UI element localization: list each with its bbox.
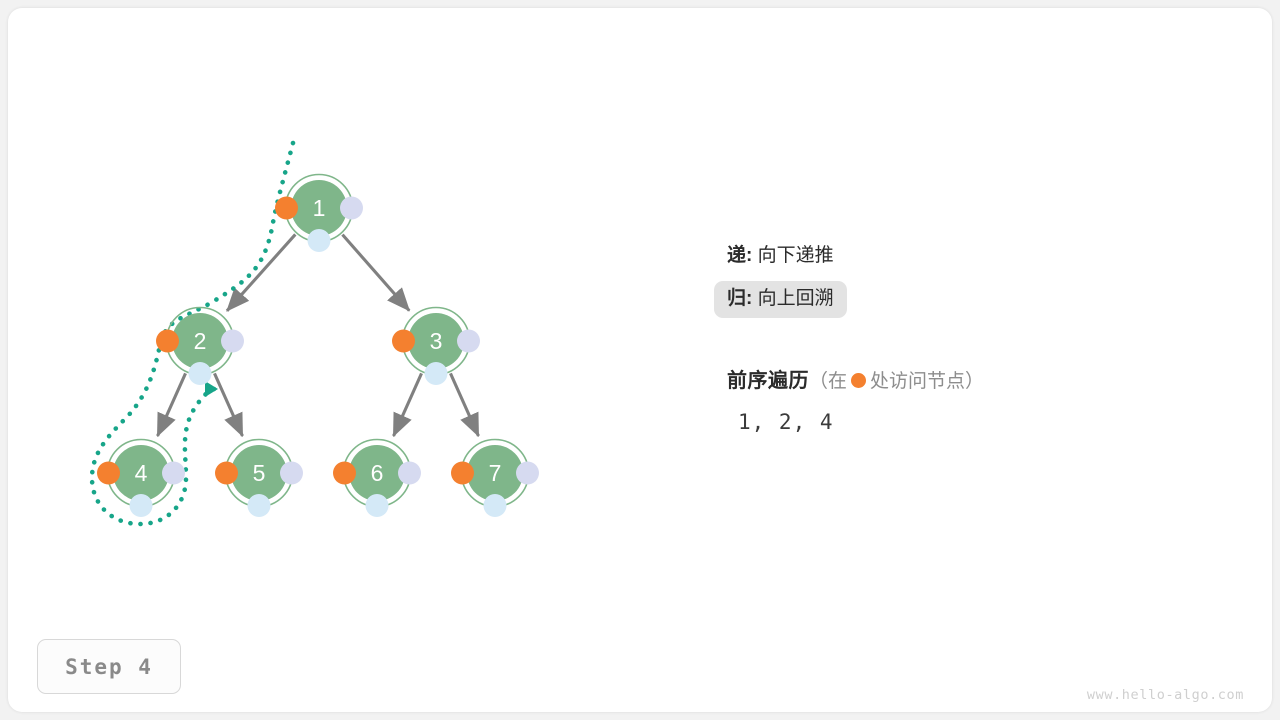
node-bottom-marker-dot bbox=[189, 362, 212, 385]
legend-key-recurse: 递: bbox=[727, 245, 752, 266]
legend-key-backtrack: 归: bbox=[727, 288, 752, 309]
node-bottom-marker-dot bbox=[130, 494, 153, 517]
tree-edge-n3-n7 bbox=[450, 373, 478, 436]
node-visit-marker-dot bbox=[215, 462, 238, 485]
tree-node-2[interactable]: 2 bbox=[156, 308, 244, 386]
node-label: 5 bbox=[253, 460, 266, 486]
node-visit-marker-dot bbox=[97, 462, 120, 485]
recursion-path-arrowhead bbox=[205, 381, 218, 397]
node-label: 3 bbox=[430, 328, 443, 354]
node-right-marker-dot bbox=[340, 197, 363, 220]
node-visit-marker-dot bbox=[156, 330, 179, 353]
traversal-sequence: 1, 2, 4 bbox=[738, 410, 834, 434]
tree-nodes: 1234567 bbox=[97, 175, 539, 518]
node-right-marker-dot bbox=[280, 462, 303, 485]
node-label: 1 bbox=[313, 195, 326, 221]
tree-edge-n1-n2 bbox=[227, 234, 295, 310]
node-right-marker-dot bbox=[162, 462, 185, 485]
node-right-marker-dot bbox=[221, 330, 244, 353]
traversal-title: 前序遍历 bbox=[727, 370, 809, 392]
node-bottom-marker-dot bbox=[484, 494, 507, 517]
node-label: 4 bbox=[135, 460, 148, 486]
tree-node-4[interactable]: 4 bbox=[97, 440, 185, 518]
node-visit-marker-dot bbox=[392, 330, 415, 353]
node-label: 2 bbox=[194, 328, 207, 354]
node-bottom-marker-dot bbox=[248, 494, 271, 517]
node-right-marker-dot bbox=[516, 462, 539, 485]
tree-edge-n1-n3 bbox=[342, 235, 409, 311]
tree-edge-n3-n6 bbox=[394, 373, 422, 436]
node-right-marker-dot bbox=[398, 462, 421, 485]
node-bottom-marker-dot bbox=[308, 229, 331, 252]
node-bottom-marker-dot bbox=[425, 362, 448, 385]
tree-edge-n2-n5 bbox=[214, 373, 242, 436]
visit-marker-dot bbox=[851, 373, 866, 388]
tree-node-7[interactable]: 7 bbox=[451, 440, 539, 518]
node-right-marker-dot bbox=[457, 330, 480, 353]
step-badge-label: Step 4 bbox=[65, 655, 153, 679]
node-visit-marker-dot bbox=[451, 462, 474, 485]
traversal-heading: 前序遍历（在处访问节点） bbox=[727, 364, 984, 393]
legend-value-recurse: 向下递推 bbox=[758, 245, 834, 266]
tree-edge-n2-n4 bbox=[158, 373, 186, 436]
node-bottom-marker-dot bbox=[366, 494, 389, 517]
traversal-note-before: （在 bbox=[809, 371, 847, 392]
tree-node-5[interactable]: 5 bbox=[215, 440, 303, 518]
step-badge: Step 4 bbox=[37, 639, 181, 694]
tree-node-6[interactable]: 6 bbox=[333, 440, 421, 518]
watermark: www.hello-algo.com bbox=[1087, 687, 1244, 703]
node-label: 6 bbox=[371, 460, 384, 486]
legend: 递: 向下递推 归: 向上回溯 bbox=[727, 238, 1157, 318]
node-visit-marker-dot bbox=[333, 462, 356, 485]
node-visit-marker-dot bbox=[275, 197, 298, 220]
tree-node-3[interactable]: 3 bbox=[392, 308, 480, 386]
legend-row-backtrack: 归: 向上回溯 bbox=[714, 281, 847, 318]
legend-row-recurse: 递: 向下递推 bbox=[714, 238, 847, 275]
node-label: 7 bbox=[489, 460, 502, 486]
traversal-note-after: 处访问节点） bbox=[870, 371, 984, 392]
legend-value-backtrack: 向上回溯 bbox=[758, 288, 834, 309]
tree-diagram: 1234567 bbox=[0, 0, 1280, 720]
